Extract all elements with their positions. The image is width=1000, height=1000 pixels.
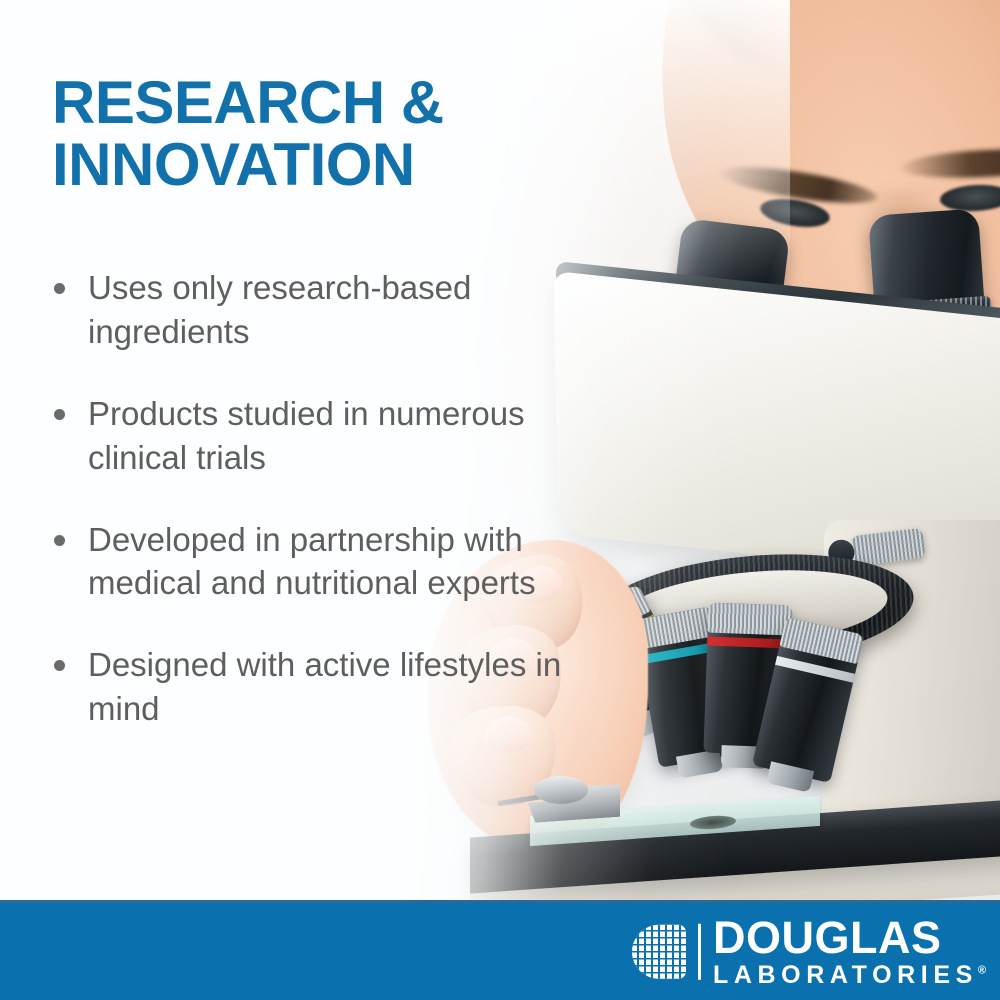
page-title-line-1: RESEARCH & (52, 69, 444, 136)
bullet-text: Developed in partnership with medical an… (88, 521, 536, 602)
promotional-poster: RESEARCH &INNOVATION Uses only research-… (0, 0, 1000, 1000)
bullet-dot-icon (54, 283, 65, 294)
bullet-text: Uses only research-based ingredients (88, 269, 471, 350)
logo-divider (698, 924, 701, 980)
list-item: Uses only research-based ingredients (48, 266, 568, 354)
objective-collar (708, 603, 793, 636)
logo-subtitle-text: LABORATORIES (713, 960, 978, 988)
brand-logo: DOUGLAS LABORATORIES® (630, 915, 986, 987)
list-item: Designed with active lifestyles in mind (48, 643, 568, 731)
feature-bullet-list: Uses only research-based ingredients Pro… (48, 266, 568, 731)
logo-wordmark: DOUGLAS LABORATORIES® (713, 915, 986, 987)
bullet-text: Designed with active lifestyles in mind (88, 646, 561, 727)
douglas-grid-disc-icon (630, 923, 688, 981)
page-title: RESEARCH &INNOVATION (52, 72, 552, 196)
bullet-dot-icon (54, 409, 65, 420)
registered-trademark-icon: ® (978, 964, 986, 976)
logo-grid-overlay (632, 925, 686, 979)
logo-brand-subtitle: LABORATORIES® (713, 961, 986, 987)
bullet-dot-icon (54, 660, 65, 671)
list-item: Developed in partnership with medical an… (48, 518, 568, 606)
logo-brand-name: DOUGLAS (713, 915, 986, 958)
list-item: Products studied in numerous clinical tr… (48, 392, 568, 480)
page-title-line-2: INNOVATION (52, 131, 415, 198)
footer-bar: DOUGLAS LABORATORIES® (0, 900, 1000, 1000)
stage-clip-knob (534, 776, 588, 804)
bullet-text: Products studied in numerous clinical tr… (88, 395, 525, 476)
bullet-dot-icon (54, 535, 65, 546)
